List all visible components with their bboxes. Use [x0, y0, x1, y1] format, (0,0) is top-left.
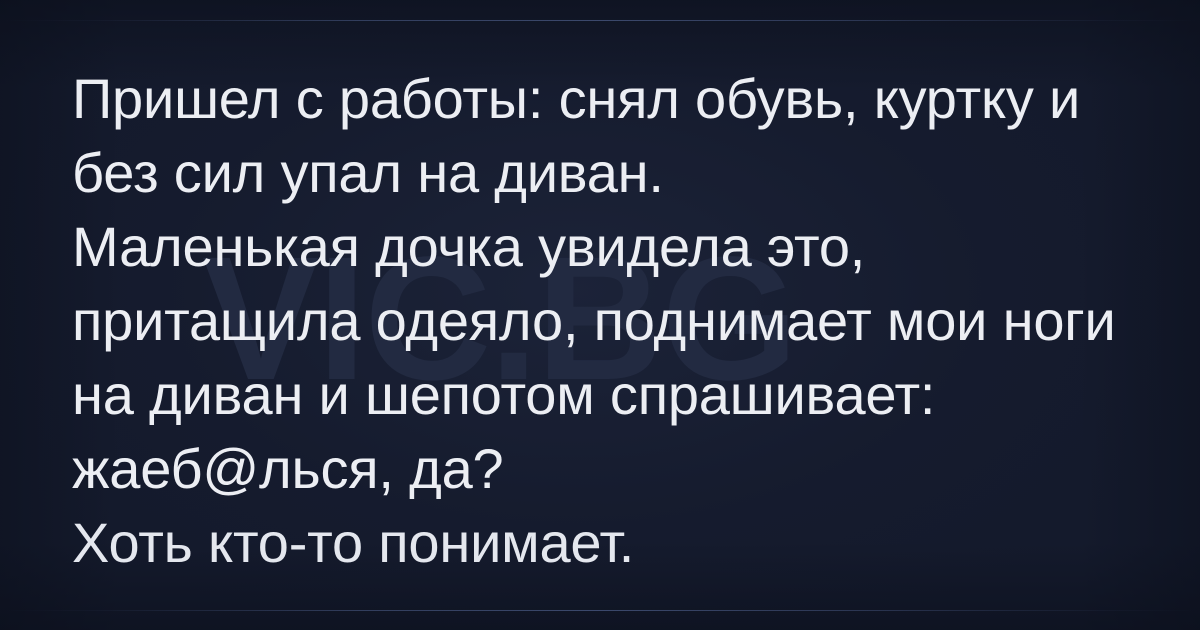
- top-divider: [0, 20, 1200, 21]
- quote-line-2: без сил упал на диван.: [72, 136, 1182, 210]
- quote-text-block: Пришел с работы: снял обувь, куртку и бе…: [72, 62, 1182, 580]
- quote-line-4: притащила одеяло, поднимает мои ноги: [72, 284, 1182, 358]
- quote-line-7: Хоть кто-то понимает.: [72, 506, 1182, 580]
- quote-line-5: на диван и шепотом спрашивает:: [72, 358, 1182, 432]
- quote-line-6: жаеб@лься, да?: [72, 432, 1182, 506]
- joke-image-card: VIC.BG Пришел с работы: снял обувь, курт…: [0, 0, 1200, 630]
- quote-line-3: Маленькая дочка увидела это,: [72, 210, 1182, 284]
- quote-line-1: Пришел с работы: снял обувь, куртку и: [72, 62, 1182, 136]
- bottom-divider: [0, 610, 1200, 611]
